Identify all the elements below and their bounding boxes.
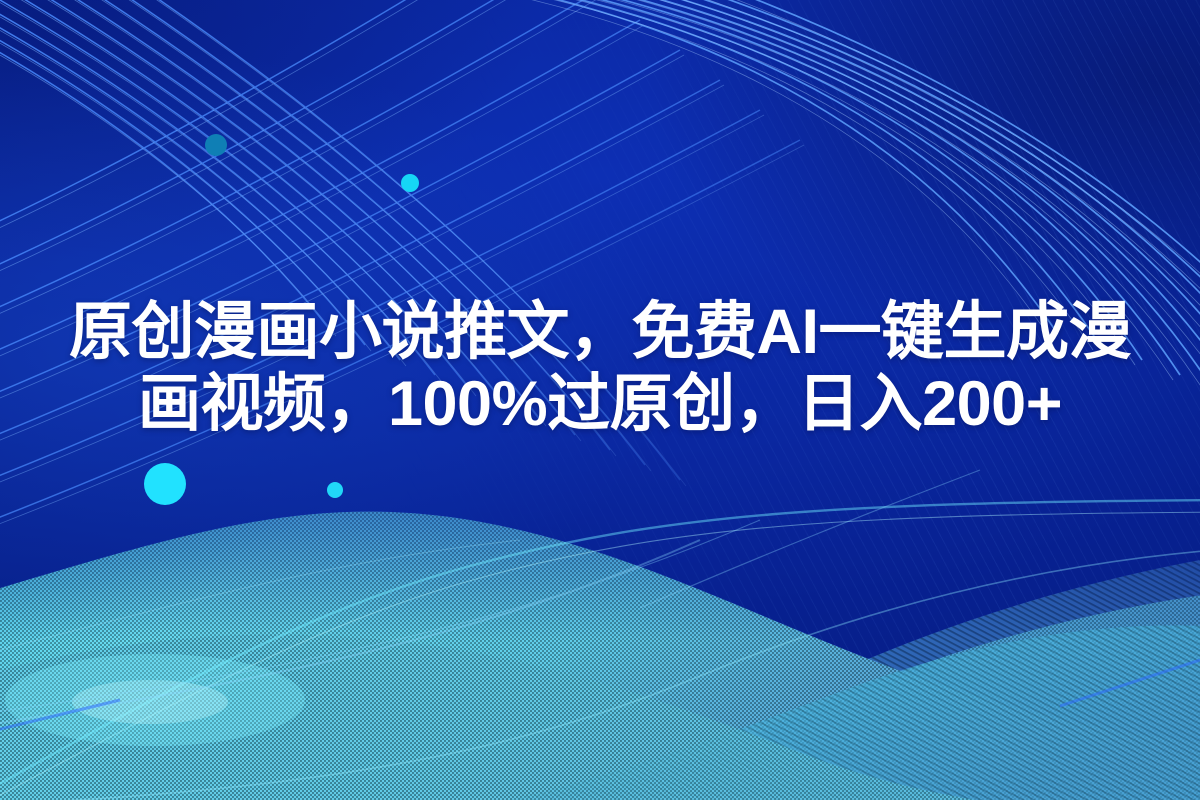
headline-line-1: 原创漫画小说推文，免费AI一键生成漫 <box>0 296 1200 368</box>
dot-cyan-tiny <box>401 174 419 192</box>
headline-line-2: 画视频，100%过原创，日入200+ <box>0 368 1200 440</box>
dot-cyan-mini <box>327 482 343 498</box>
headline-block: 原创漫画小说推文，免费AI一键生成漫 画视频，100%过原创，日入200+ <box>0 296 1200 440</box>
poster-canvas: 原创漫画小说推文，免费AI一键生成漫 画视频，100%过原创，日入200+ <box>0 0 1200 800</box>
dot-teal-small <box>205 134 227 156</box>
dot-cyan-large <box>144 463 186 505</box>
